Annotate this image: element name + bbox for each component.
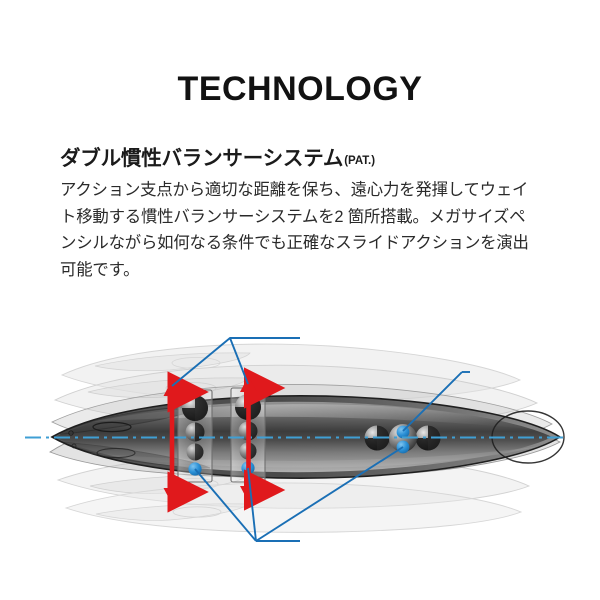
technology-page: TECHNOLOGY ダブル慣性バランサーシステム (PAT.) アクション支点…	[0, 0, 600, 600]
action-fulcrum-cluster	[365, 424, 441, 453]
lure-diagram-svg	[0, 300, 600, 570]
lure-diagram: 慣性バランサーシステム PAT. X 2 シーソーバランシングシステム PAT.…	[0, 300, 600, 570]
subtitle-pat-mark: (PAT.)	[344, 155, 375, 167]
section-subtitle: ダブル慣性バランサーシステム (PAT.)	[60, 141, 375, 171]
body-paragraph: アクション支点から適切な距離を保ち、遠心力を発揮してウェイト移動する慣性バランサ…	[60, 177, 530, 283]
page-title: TECHNOLOGY	[0, 70, 600, 109]
subtitle-text: ダブル慣性バランサーシステム	[60, 141, 343, 171]
